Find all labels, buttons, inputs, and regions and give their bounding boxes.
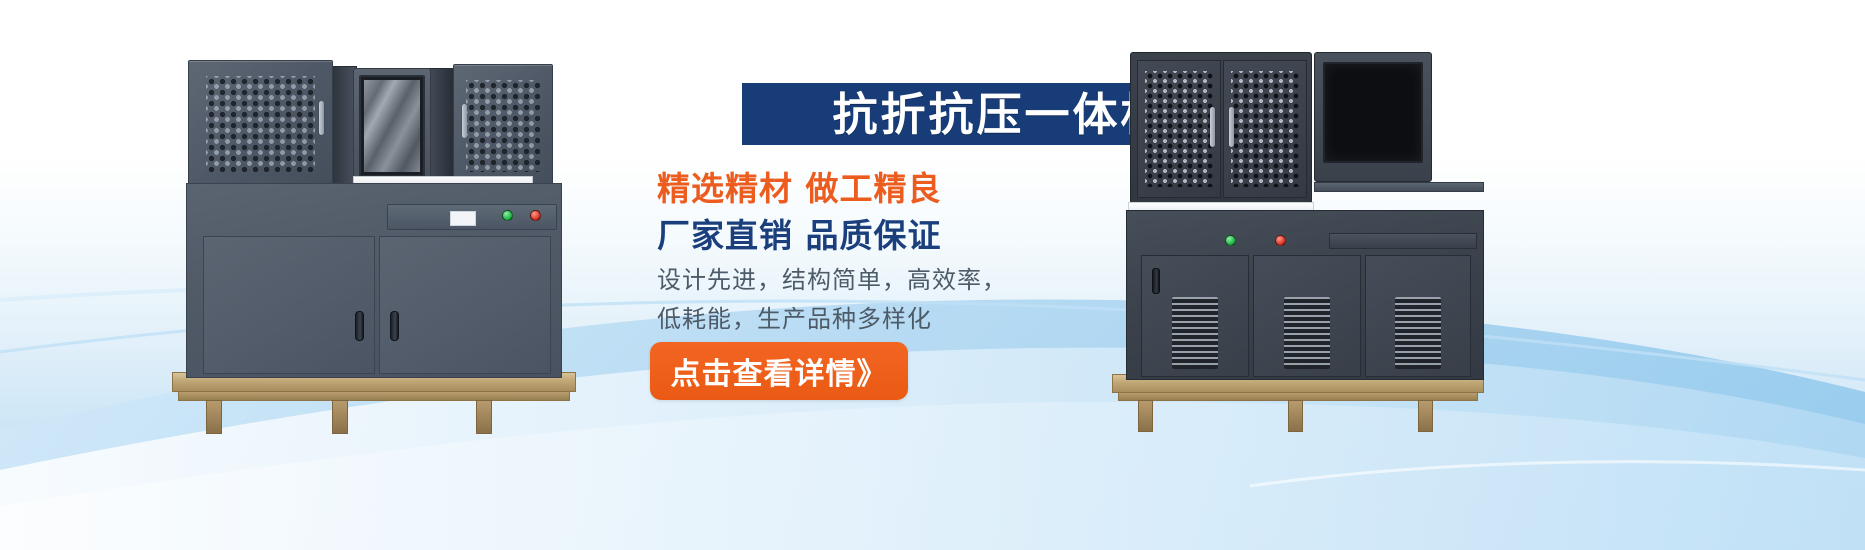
machine-left-cabinet bbox=[186, 183, 562, 378]
monitor-icon bbox=[364, 80, 420, 172]
product-image-right bbox=[1108, 42, 1488, 432]
cabinet-door-left bbox=[203, 236, 375, 374]
view-details-label: 点击查看详情》 bbox=[671, 349, 888, 393]
control-panel-strip bbox=[1329, 233, 1477, 249]
louver-door-icon bbox=[1172, 297, 1219, 369]
cabinet-handle-icon bbox=[1152, 268, 1160, 294]
headline-primary: 精选精材 做工精良 bbox=[657, 162, 942, 210]
monitor-left bbox=[353, 68, 431, 190]
led-red-icon bbox=[1275, 235, 1286, 246]
louver-door-icon bbox=[1284, 297, 1331, 369]
door-handle-icon bbox=[319, 101, 324, 135]
perforated-door-upper-right bbox=[1223, 60, 1307, 198]
perforated-door-icon bbox=[466, 80, 540, 173]
monitor-right bbox=[1314, 52, 1432, 182]
pallet-leg-2 bbox=[332, 400, 348, 434]
monitor-bezel bbox=[359, 75, 425, 177]
louver-door-2 bbox=[1253, 255, 1361, 377]
cabinet-handle-icon bbox=[355, 311, 364, 341]
upper-cabinet-right bbox=[1130, 52, 1312, 204]
door-handle-icon bbox=[1229, 107, 1234, 147]
promo-banner: 抗折抗压一体机 精选精材 做工精良 厂家直销 品质保证 设计先进，结构简单，高效… bbox=[0, 0, 1865, 550]
cabinet-door-right bbox=[379, 236, 551, 374]
pallet-leg-3 bbox=[476, 400, 492, 434]
perforated-door-upper-right bbox=[453, 64, 553, 188]
view-details-button[interactable]: 点击查看详情》 bbox=[650, 342, 908, 400]
led-green-icon bbox=[502, 210, 513, 221]
pallet-plank-mid bbox=[178, 391, 570, 401]
pallet-leg-1 bbox=[206, 400, 222, 434]
perforated-door-upper-left bbox=[1137, 60, 1221, 198]
pallet-leg-2 bbox=[1288, 400, 1303, 432]
louver-door-3 bbox=[1365, 255, 1471, 377]
product-image-left bbox=[168, 50, 588, 430]
door-handle-icon bbox=[462, 104, 467, 138]
pallet-left bbox=[172, 372, 576, 434]
description-line-1: 设计先进，结构简单，高效率， bbox=[657, 260, 1007, 295]
banner-text-block: 抗折抗压一体机 精选精材 做工精良 厂家直销 品质保证 设计先进，结构简单，高效… bbox=[640, 70, 1100, 490]
headline-secondary: 厂家直销 品质保证 bbox=[657, 209, 942, 257]
led-red-icon bbox=[530, 210, 541, 221]
cabinet-handle-icon bbox=[390, 311, 399, 341]
machine-right-cabinet bbox=[1126, 210, 1484, 380]
machine-right-shelf bbox=[1314, 182, 1484, 192]
door-handle-icon bbox=[1210, 107, 1215, 147]
pallet-leg-3 bbox=[1418, 400, 1433, 432]
drawer-label bbox=[450, 211, 476, 226]
perforated-door-icon bbox=[1145, 71, 1214, 188]
louver-door-1 bbox=[1141, 255, 1249, 377]
pallet-right bbox=[1112, 374, 1484, 432]
louver-door-icon bbox=[1395, 297, 1441, 369]
perforated-door-icon bbox=[206, 76, 315, 172]
perforated-door-icon bbox=[1231, 71, 1300, 188]
pallet-leg-1 bbox=[1138, 400, 1153, 432]
description-line-2: 低耗能，生产品种多样化 bbox=[657, 299, 932, 334]
perforated-door-upper-left bbox=[188, 60, 333, 188]
led-green-icon bbox=[1225, 235, 1236, 246]
monitor-icon bbox=[1323, 62, 1423, 163]
